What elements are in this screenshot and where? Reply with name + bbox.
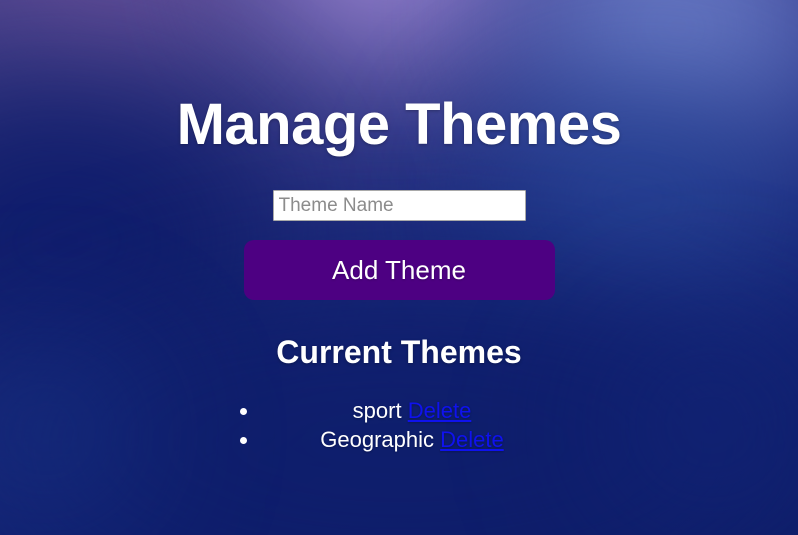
add-theme-form: Add Theme <box>0 190 798 300</box>
add-theme-button[interactable]: Add Theme <box>244 240 555 300</box>
list-item: Geographic Delete <box>260 425 564 454</box>
delete-theme-link[interactable]: Delete <box>440 427 504 452</box>
page-content: Manage Themes Add Theme Current Themes s… <box>0 0 798 535</box>
theme-name-label: sport <box>353 398 402 423</box>
theme-name-input[interactable] <box>273 190 526 221</box>
list-item: sport Delete <box>260 396 564 425</box>
current-themes-heading: Current Themes <box>0 300 798 370</box>
theme-name-label: Geographic <box>320 427 434 452</box>
themes-list: sport Delete Geographic Delete <box>234 396 564 454</box>
page-title: Manage Themes <box>0 0 798 154</box>
delete-theme-link[interactable]: Delete <box>408 398 472 423</box>
